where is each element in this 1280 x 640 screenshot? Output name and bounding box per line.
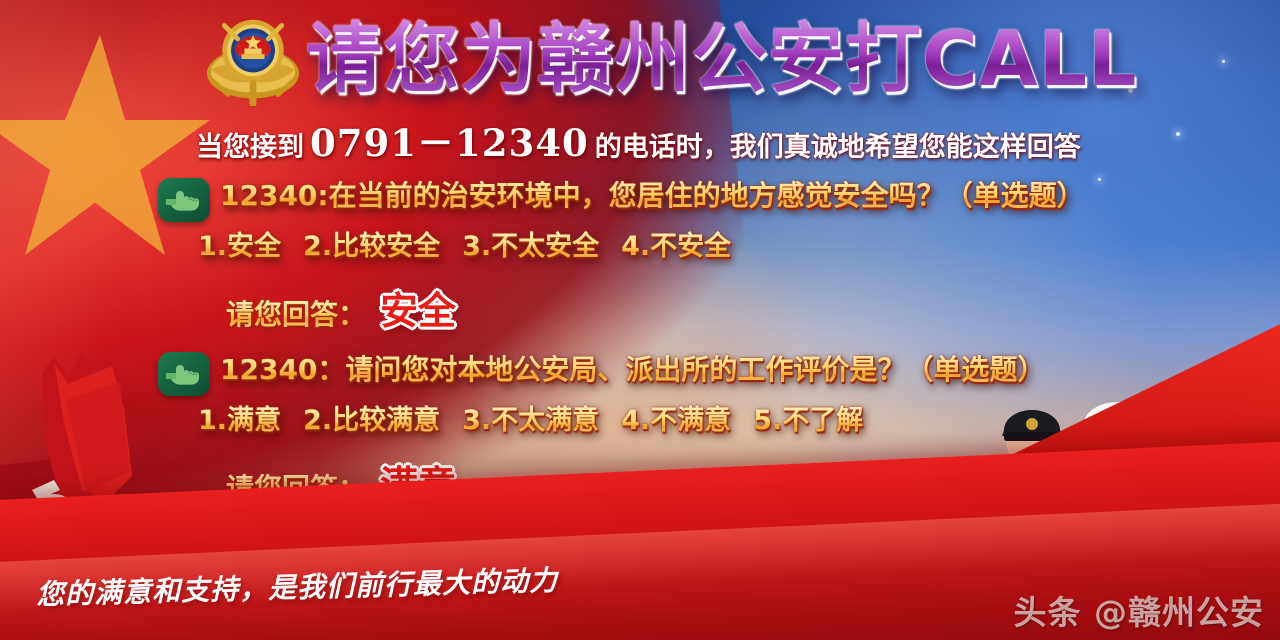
question-text-1: 12340:在当前的治安环境中，您居住的地方感觉安全吗？（单选题） <box>220 176 1085 216</box>
watermark: 头条 @赣州公安 <box>1014 586 1265 634</box>
police-emblem-icon <box>205 14 301 106</box>
subtitle-prefix: 当您接到 <box>196 132 304 163</box>
subtitle-suffix: 的电话时，我们真诚地希望您能这样回答 <box>595 132 1081 163</box>
sparkle-dot <box>1098 178 1101 181</box>
option-item[interactable]: 5.不了解 <box>753 405 863 436</box>
option-item[interactable]: 3.不太满意 <box>462 405 599 436</box>
page-title: 请您为赣州公安打CALL <box>306 18 1137 100</box>
answer-row-1: 请您回答：安全 <box>226 280 456 335</box>
pointing-hand-icon <box>158 352 210 396</box>
flag-star-icon <box>0 20 220 270</box>
answer-label: 请您回答： <box>226 298 366 331</box>
answer-value: 安全 <box>380 289 456 333</box>
poster-canvas: 请您为赣州公安打CALL 当您接到0791－12340的电话时，我们真诚地希望您… <box>0 0 1280 640</box>
sparkle-dot <box>1222 60 1225 63</box>
pointing-hand-icon <box>158 178 210 222</box>
option-item[interactable]: 3.不太安全 <box>462 231 599 262</box>
option-item[interactable]: 1.安全 <box>198 231 281 262</box>
option-item[interactable]: 1.满意 <box>198 405 281 436</box>
option-item[interactable]: 2.比较安全 <box>303 231 440 262</box>
option-item[interactable]: 2.比较满意 <box>303 405 440 436</box>
question-text-2: 12340：请问您对本地公安局、派出所的工作评价是？（单选题） <box>220 350 1045 390</box>
subtitle: 当您接到0791－12340的电话时，我们真诚地希望您能这样回答 <box>196 126 1081 165</box>
option-item[interactable]: 4.不安全 <box>621 231 731 262</box>
sparkle-dot <box>1176 132 1180 136</box>
hotline-number: 0791－12340 <box>304 121 595 165</box>
option-item[interactable]: 4.不满意 <box>621 405 731 436</box>
question-options-2: 1.满意2.比较满意3.不太满意4.不满意5.不了解 <box>198 402 863 440</box>
question-options-1: 1.安全2.比较安全3.不太安全4.不安全 <box>198 228 731 266</box>
